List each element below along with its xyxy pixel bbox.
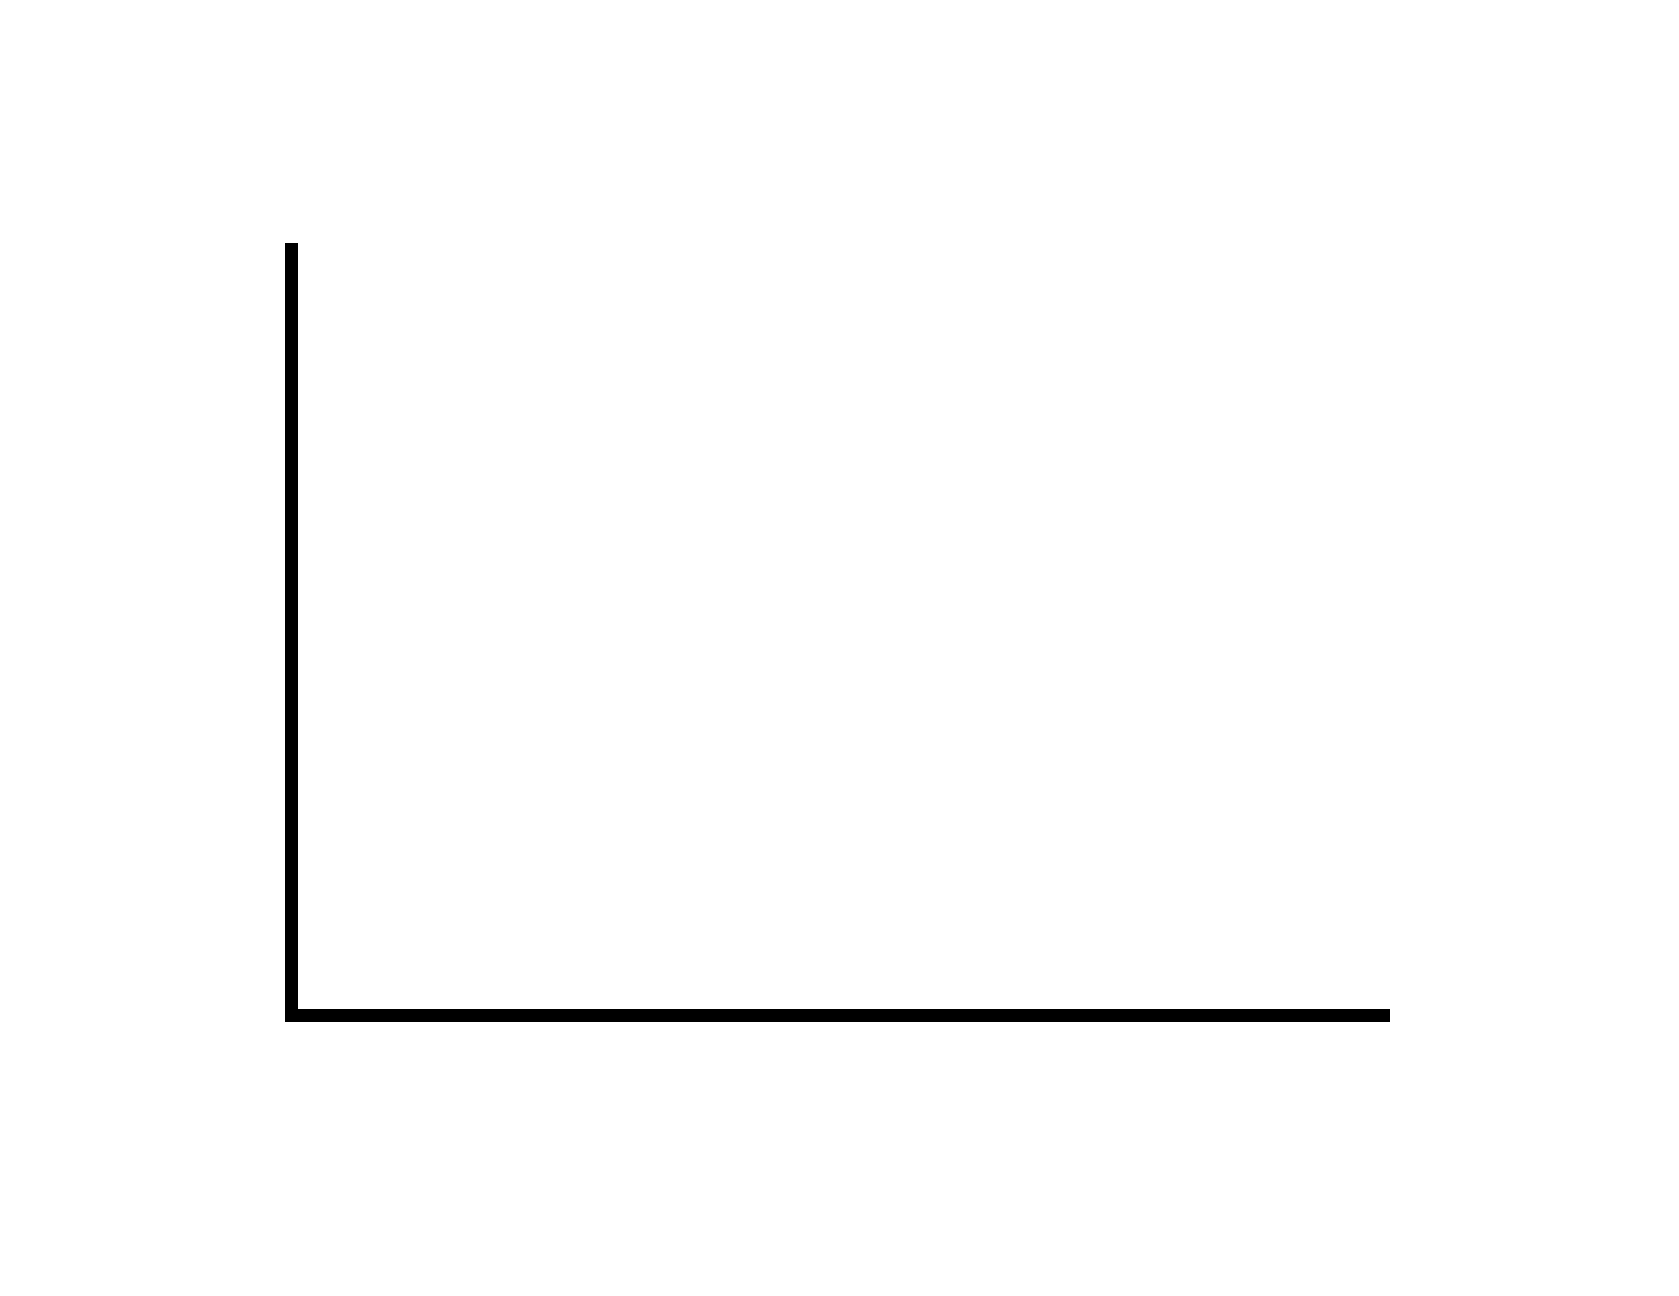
y-axis-line [285, 243, 298, 1022]
x-axis-line [285, 1009, 1390, 1022]
data-curve-layer [0, 0, 1679, 1296]
elisa-chart-figure [0, 0, 1679, 1296]
